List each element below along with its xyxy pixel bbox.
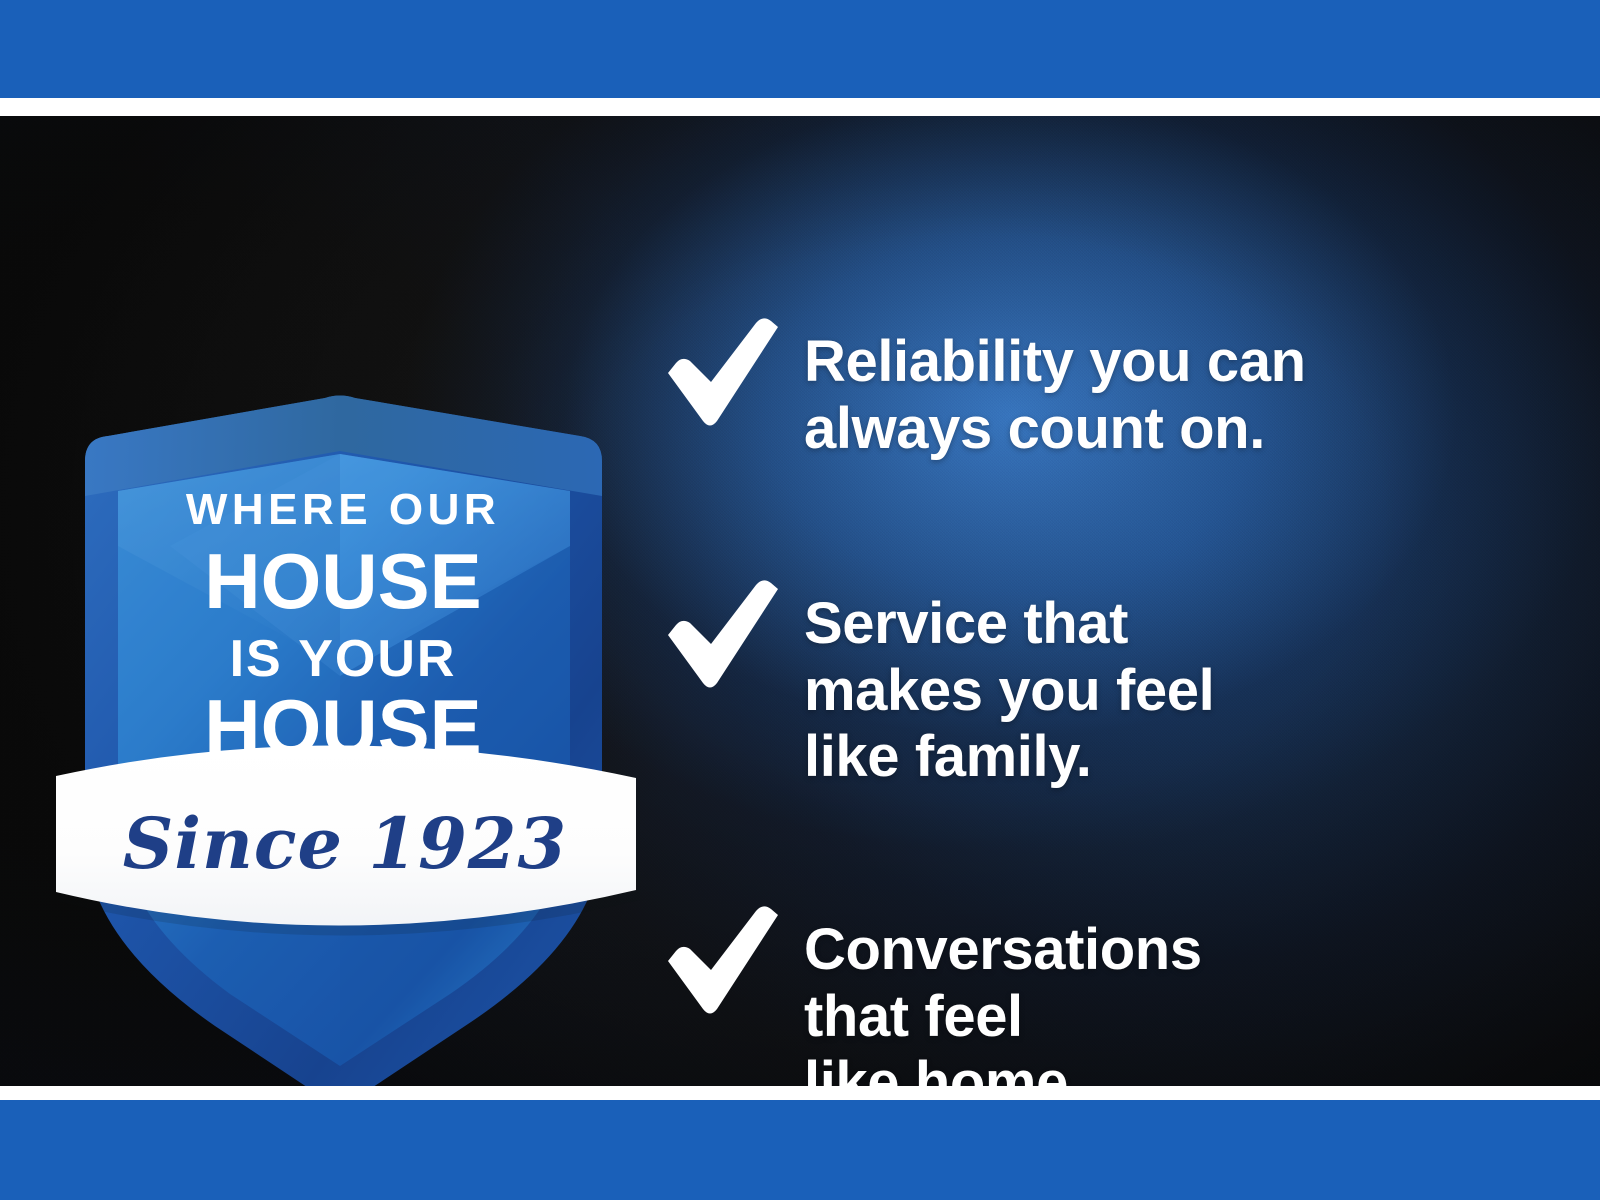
benefit-item-3: Conversations that feel like home. (660, 899, 1202, 1086)
benefit-item-2: Service that makes you feel like family. (660, 573, 1214, 791)
benefit-text-1: Reliability you can always count on. (804, 311, 1306, 462)
benefit-text-3: Conversations that feel like home. (804, 899, 1202, 1086)
ribbon-banner: Since 1923 (56, 745, 640, 935)
promo-graphic: WHERE OUR HOUSE IS YOUR HOUSE Since 1923 (0, 0, 1600, 1200)
check-icon (660, 899, 782, 1017)
benefit-item-1: Reliability you can always count on. (660, 311, 1306, 462)
top-white-divider (0, 98, 1600, 116)
shield-line-1: WHERE OUR (186, 485, 500, 534)
shield-line-2: HOUSE (204, 537, 481, 625)
brand-emblem: WHERE OUR HOUSE IS YOUR HOUSE Since 1923 (40, 246, 660, 946)
check-icon (660, 311, 782, 429)
top-brand-bar (0, 0, 1600, 98)
bottom-white-divider (0, 1086, 1600, 1100)
check-icon (660, 573, 782, 691)
benefit-text-2: Service that makes you feel like family. (804, 573, 1214, 791)
ribbon-text: Since 1923 (123, 802, 567, 885)
shield-line-3: IS YOUR (230, 630, 457, 688)
bottom-brand-bar (0, 1100, 1600, 1200)
main-canvas: WHERE OUR HOUSE IS YOUR HOUSE Since 1923 (0, 116, 1600, 1086)
